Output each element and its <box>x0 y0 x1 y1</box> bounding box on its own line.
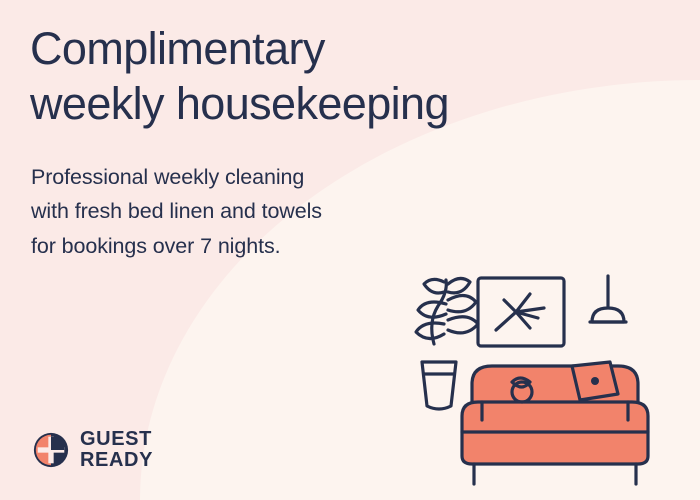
subheadline: Professional weekly cleaning with fresh … <box>31 160 491 263</box>
framed-picture-icon <box>478 278 564 346</box>
living-room-illustration <box>404 270 694 500</box>
brand-logo-text: GUEST READY <box>80 429 153 470</box>
page-title: Complimentary weekly housekeeping <box>30 22 650 132</box>
floor-lamp-icon <box>590 276 626 322</box>
cushion-icon <box>572 362 618 400</box>
brand-logo: GUEST READY <box>32 429 153 470</box>
sofa-icon <box>462 362 648 484</box>
guest-ready-logo-mark-icon <box>32 431 70 469</box>
potted-plant-icon <box>416 278 478 409</box>
promo-card: Complimentary weekly housekeeping Profes… <box>0 0 700 500</box>
